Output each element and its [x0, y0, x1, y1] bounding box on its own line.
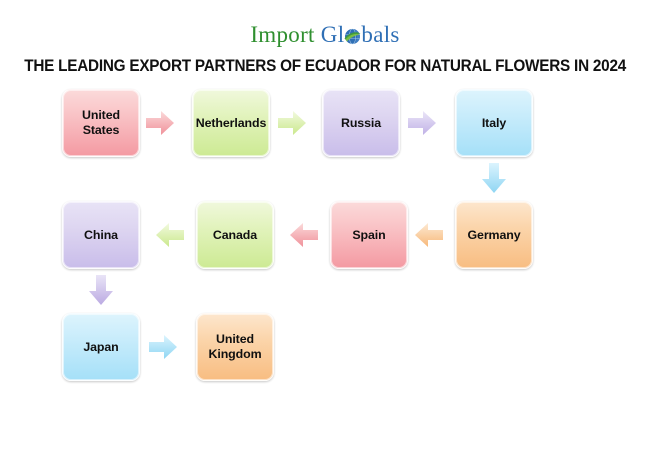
- node-united-kingdom[interactable]: United Kingdom: [196, 313, 274, 381]
- arrow-canada-to-china: [154, 220, 186, 250]
- brand-logo[interactable]: Import Gl bals: [250, 22, 399, 48]
- node-russia[interactable]: Russia: [322, 89, 400, 157]
- arrow-japan-to-united-kingdom: [147, 332, 179, 362]
- page-header: Import Gl bals THE LEADING EXPORT PARTNE…: [0, 0, 650, 76]
- node-label-line1: Japan: [83, 340, 118, 355]
- node-italy[interactable]: Italy: [455, 89, 533, 157]
- node-label-line1: Canada: [213, 228, 257, 243]
- node-japan[interactable]: Japan: [62, 313, 140, 381]
- brand-name-bals: bals: [361, 22, 399, 47]
- arrow-netherlands-to-russia: [276, 108, 308, 138]
- arrow-china-to-japan: [86, 273, 116, 308]
- node-canada[interactable]: Canada: [196, 201, 274, 269]
- node-label-line1: United: [82, 108, 120, 123]
- globe-icon: [344, 25, 361, 42]
- node-germany[interactable]: Germany: [455, 201, 533, 269]
- node-label-line2: Kingdom: [209, 347, 262, 362]
- export-partners-flow-diagram: United States Netherlands Russia: [0, 76, 650, 416]
- arrow-russia-to-italy: [406, 108, 438, 138]
- node-label-line1: Netherlands: [196, 116, 267, 131]
- arrow-united-states-to-netherlands: [144, 108, 176, 138]
- node-label-line1: Germany: [467, 228, 520, 243]
- node-china[interactable]: China: [62, 201, 140, 269]
- node-label-line2: States: [82, 123, 120, 138]
- arrow-italy-to-germany: [479, 161, 509, 196]
- node-label-line1: Spain: [352, 228, 385, 243]
- page-title: THE LEADING EXPORT PARTNERS OF ECUADOR F…: [24, 57, 626, 76]
- node-united-states[interactable]: United States: [62, 89, 140, 157]
- brand-name-import: Import: [250, 22, 314, 47]
- arrow-spain-to-canada: [288, 220, 320, 250]
- node-label-line1: China: [84, 228, 118, 243]
- node-netherlands[interactable]: Netherlands: [192, 89, 270, 157]
- node-label-line1: United: [209, 332, 262, 347]
- node-label-line1: Italy: [482, 116, 506, 131]
- brand-name-gl: Gl: [321, 22, 345, 47]
- node-spain[interactable]: Spain: [330, 201, 408, 269]
- node-label-line1: Russia: [341, 116, 381, 131]
- arrow-germany-to-spain: [413, 220, 445, 250]
